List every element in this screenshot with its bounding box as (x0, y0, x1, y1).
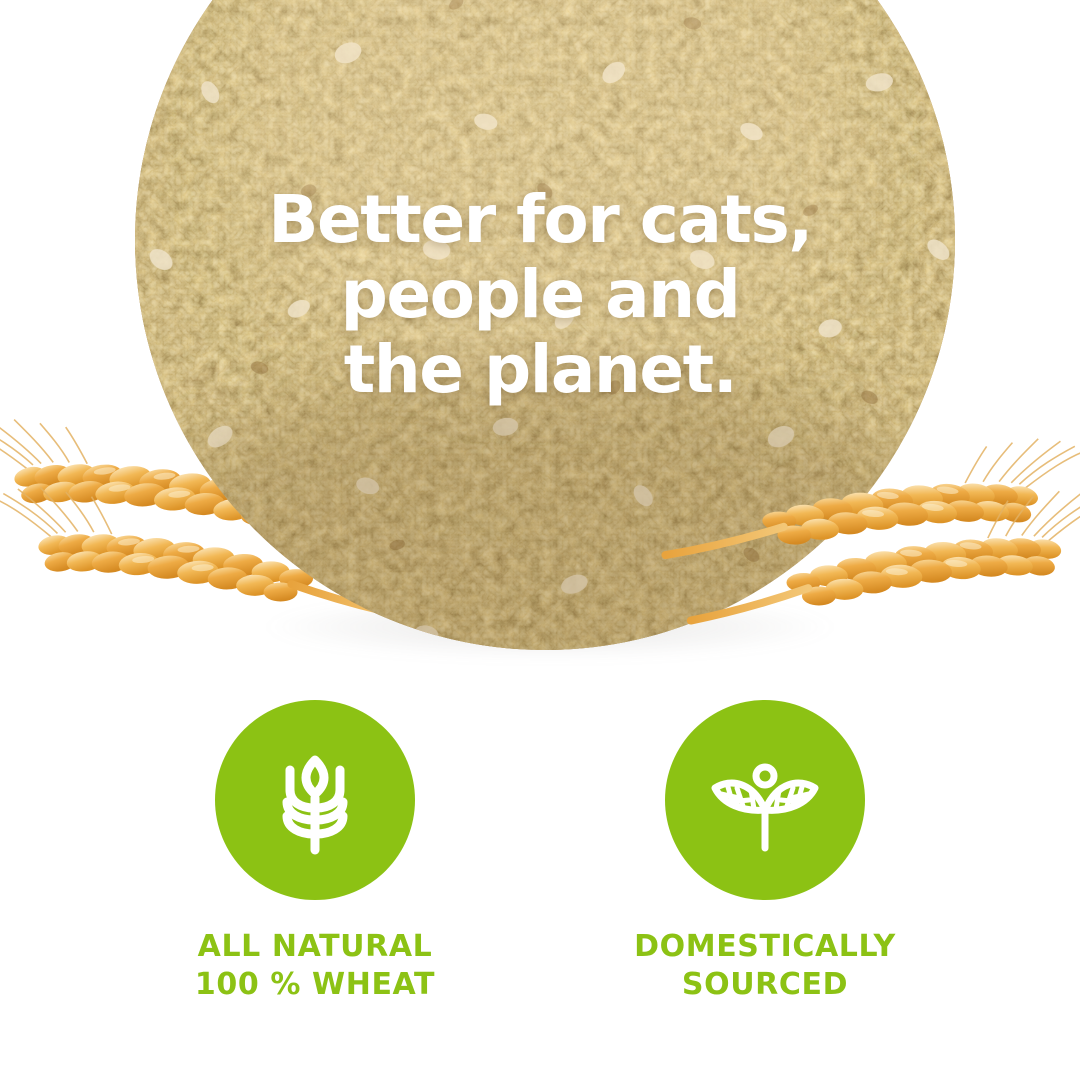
hero-headline: Better for cats, people and the planet. (0, 182, 1080, 407)
headline-line-1: Better for cats, (0, 182, 1080, 257)
feature-label-line-2: SOURCED (634, 966, 896, 1004)
headline-line-3: the planet. (0, 332, 1080, 407)
feature-label-line-1: DOMESTICALLY (634, 928, 896, 966)
feature-label-line-1: ALL NATURAL (195, 928, 435, 966)
feature-badges: ALL NATURAL 100 % WHEAT (0, 700, 1080, 1080)
feature-badge-circle (215, 700, 415, 900)
feature-all-natural: ALL NATURAL 100 % WHEAT (90, 700, 540, 1004)
headline-line-2: people and (0, 257, 1080, 332)
feature-label-line-2: 100 % WHEAT (195, 966, 435, 1004)
sprout-leaf-icon (705, 740, 825, 860)
wheat-stalks-right (670, 470, 1080, 670)
wheat-stalk-icon (255, 740, 375, 860)
product-marketing-image: Better for cats, people and the planet. (0, 0, 1080, 1080)
feature-label: DOMESTICALLY SOURCED (634, 928, 896, 1004)
feature-badge-circle (665, 700, 865, 900)
feature-label: ALL NATURAL 100 % WHEAT (195, 928, 435, 1004)
feature-domestically-sourced: DOMESTICALLY SOURCED (540, 700, 990, 1004)
hero-section: Better for cats, people and the planet. (0, 0, 1080, 700)
